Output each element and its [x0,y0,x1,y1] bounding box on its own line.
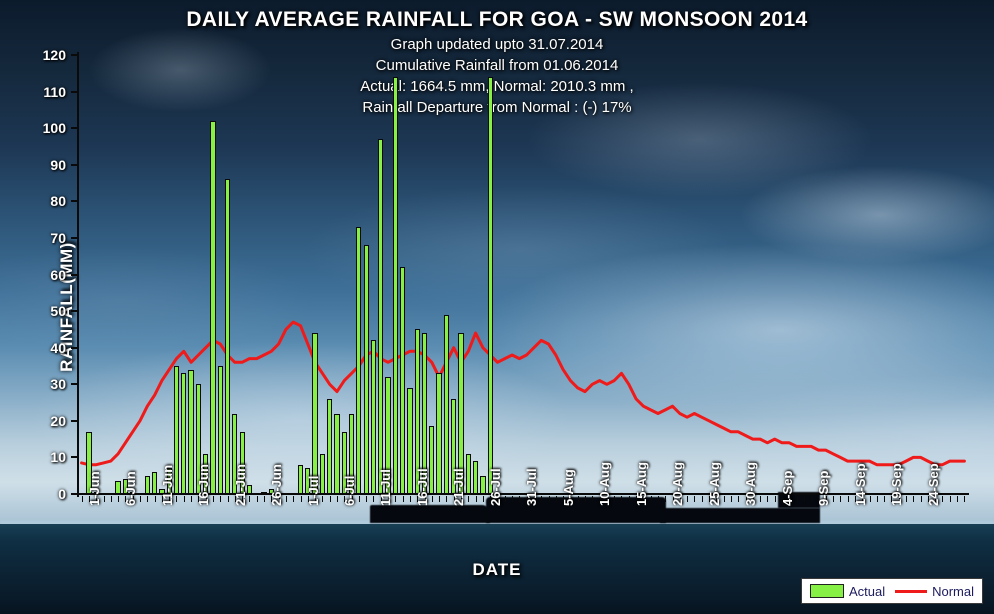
x-axis-tick [322,496,323,502]
y-axis-tick-label: 100 [43,120,66,136]
x-axis-tick [906,496,907,502]
y-axis-tick [71,274,78,276]
y-axis-tick [71,456,78,458]
x-axis-tick [942,496,943,502]
y-axis-tick [71,237,78,239]
y-axis-tick-label: 60 [50,267,66,283]
legend-label-actual: Actual [849,584,885,599]
bar-actual [378,139,383,494]
y-axis-tick [71,420,78,422]
x-axis-tick [702,496,703,502]
x-axis-tick [191,496,192,502]
bar-actual [364,245,369,494]
bar-actual [115,481,120,494]
x-axis-tick [651,496,652,502]
x-axis-tick-label: 26-Jun [269,464,284,506]
x-axis-tick-label: 14-Sep [853,463,868,506]
bar-actual [181,373,186,494]
x-axis-tick [483,496,484,502]
bar-actual [436,373,441,494]
y-axis-tick [71,493,78,495]
x-axis-tick [330,496,331,502]
x-axis-tick-label: 4-Sep [780,471,795,506]
x-axis-tick [621,496,622,502]
y-axis-tick-label: 70 [50,230,66,246]
x-axis-tick [439,496,440,502]
x-axis-title: DATE [0,560,994,580]
x-axis-tick [220,496,221,502]
bar-actual [327,399,332,494]
x-axis-tick [738,496,739,502]
x-axis-tick-label: 1-Jun [87,471,102,506]
x-axis-tick [724,496,725,502]
y-axis-tick-label: 120 [43,47,66,63]
x-axis-tick [147,496,148,502]
bar-actual [393,77,398,494]
y-axis-tick [71,383,78,385]
bar-actual [298,465,303,494]
bar-actual [312,333,317,494]
bar-actual [261,492,266,494]
y-axis-tick [71,54,78,56]
x-axis-tick-label: 6-Jul [342,476,357,506]
x-axis-tick [257,496,258,502]
y-axis-tick-label: 110 [43,84,66,100]
x-axis-tick [687,496,688,502]
x-axis-tick [395,496,396,502]
x-axis-tick [877,496,878,502]
legend-label-normal: Normal [932,584,974,599]
y-axis-tick [71,310,78,312]
x-axis-tick [592,496,593,502]
x-axis-tick [286,496,287,502]
x-axis-tick [870,496,871,502]
x-axis-tick [337,496,338,502]
bar-actual [400,267,405,494]
x-axis-tick [665,496,666,502]
y-axis-tick-label: 50 [50,303,66,319]
legend-item-actual: Actual [810,584,885,599]
x-axis-tick-label: 30-Aug [743,462,758,506]
bar-actual [188,370,193,494]
x-axis-tick [410,496,411,502]
x-axis-tick-label: 25-Aug [707,462,722,506]
x-axis-tick [760,496,761,502]
x-axis-tick [359,496,360,502]
x-axis-tick [767,496,768,502]
x-axis-tick [964,496,965,502]
x-axis-tick [403,496,404,502]
x-axis-tick [614,496,615,502]
bar-actual [356,227,361,494]
legend-swatch-normal-line-icon [895,590,927,593]
x-axis-tick [884,496,885,502]
chart-legend: Actual Normal [801,578,983,604]
y-axis-tick [71,347,78,349]
x-axis-tick [797,496,798,502]
y-axis-tick [71,127,78,129]
y-axis-tick-label: 20 [50,413,66,429]
bar-actual [334,414,339,494]
x-axis-tick [549,496,550,502]
x-axis-tick-label: 15-Aug [634,462,649,506]
y-axis-tick-label: 0 [58,486,66,502]
x-axis-tick [228,496,229,502]
y-axis-tick [71,164,78,166]
x-axis-tick-label: 1-Jul [306,476,321,506]
x-axis-tick [301,496,302,502]
x-axis-tick [556,496,557,502]
x-axis-tick-label: 6-Jun [123,471,138,506]
x-axis-tick-label: 21-Jun [233,464,248,506]
x-axis-tick [541,496,542,502]
x-axis-tick [505,496,506,502]
x-axis-tick-label: 31-Jul [524,468,539,506]
bar-actual [210,121,215,494]
x-axis-tick [921,496,922,502]
x-axis-tick [811,496,812,502]
x-axis-tick-label: 5-Aug [561,469,576,506]
x-axis-tick [446,496,447,502]
ship-silhouette-left [370,505,490,523]
x-axis-tick-label: 9-Sep [816,471,831,506]
x-axis-tick [578,496,579,502]
x-axis-tick [111,496,112,502]
x-axis-tick-label: 21-Jul [451,468,466,506]
x-axis-tick [432,496,433,502]
x-axis-tick [118,496,119,502]
y-axis-tick-label: 90 [50,157,66,173]
y-axis-tick [71,200,78,202]
x-axis-tick [264,496,265,502]
x-axis-tick [176,496,177,502]
x-axis-tick [155,496,156,502]
x-axis-tick [140,496,141,502]
x-axis-tick-label: 11-Jun [160,465,175,506]
x-axis-tick [804,496,805,502]
y-axis-tick-label: 30 [50,376,66,392]
ship-silhouette-far [660,508,820,523]
bar-actual [466,454,471,494]
x-axis-tick-label: 16-Jul [415,468,430,506]
x-axis-tick [512,496,513,502]
bar-actual [444,315,449,494]
x-axis-tick-label: 10-Aug [597,462,612,506]
bar-actual [145,476,150,494]
x-axis-tick [957,496,958,502]
x-axis-tick [249,496,250,502]
bar-actual [225,179,230,494]
x-axis-tick [731,496,732,502]
x-axis-tick [293,496,294,502]
x-axis-tick [629,496,630,502]
bar-actual [371,340,376,494]
x-axis-tick [694,496,695,502]
x-axis-tick [658,496,659,502]
bar-actual [473,461,478,494]
legend-item-normal: Normal [895,584,974,599]
x-axis-tick [476,496,477,502]
x-axis-tick [82,496,83,502]
bar-actual [407,388,412,494]
x-axis-tick-label: 20-Aug [670,462,685,506]
x-axis-tick-label: 11-Jul [378,469,393,506]
x-axis-tick [840,496,841,502]
x-axis-tick-label: 16-Jun [196,464,211,506]
x-axis-tick-label: 24-Sep [926,463,941,506]
y-axis-tick-label: 80 [50,193,66,209]
x-axis-tick [213,496,214,502]
x-axis-tick [833,496,834,502]
x-axis-tick [519,496,520,502]
bar-actual [488,77,493,494]
x-axis-tick [585,496,586,502]
x-axis-tick [184,496,185,502]
x-axis-tick [468,496,469,502]
plot-area: 01020304050607080901001101201-Jun6-Jun11… [78,55,968,494]
x-axis-tick [366,496,367,502]
x-axis-tick-label: 19-Sep [889,463,904,506]
bar-actual [480,476,485,494]
bar-actual [218,366,223,494]
chart-screenshot: DAILY AVERAGE RAINFALL FOR GOA - SW MONS… [0,0,994,614]
y-axis-tick-label: 40 [50,340,66,356]
x-axis-tick [775,496,776,502]
bar-actual [152,472,157,494]
x-axis-tick-label: 26-Jul [488,468,503,506]
x-axis-tick [848,496,849,502]
legend-swatch-actual-bar-icon [810,584,844,598]
x-axis-tick [913,496,914,502]
y-axis-tick-label: 10 [50,449,66,465]
x-axis-tick [104,496,105,502]
x-axis-tick [373,496,374,502]
y-axis-tick [71,91,78,93]
x-axis-tick [950,496,951,502]
